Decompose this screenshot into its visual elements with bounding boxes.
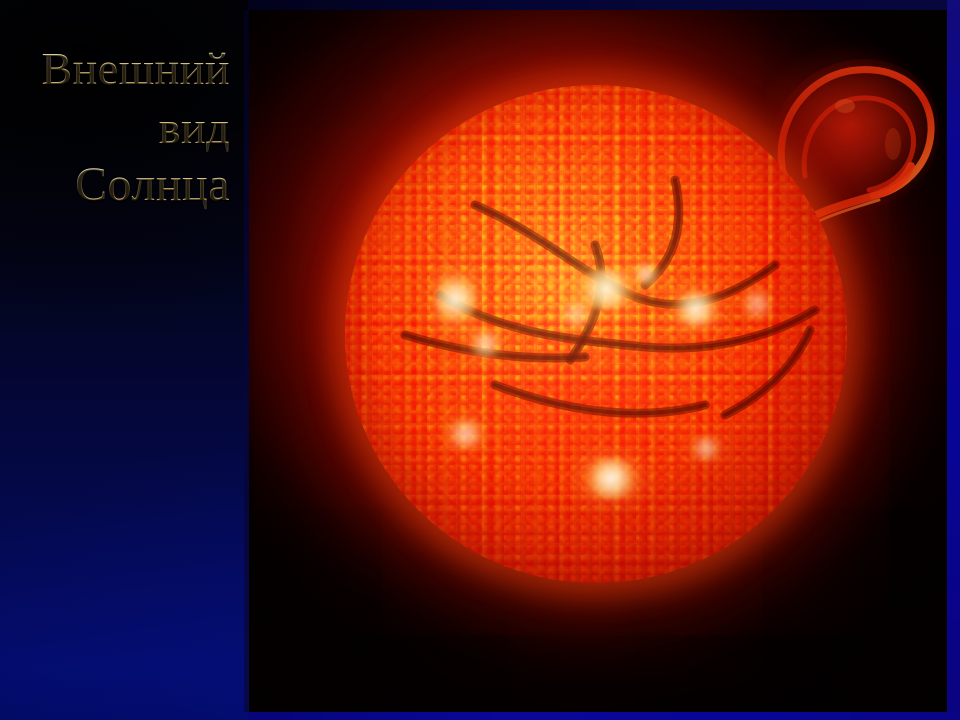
solar-disk — [345, 85, 847, 583]
title-line-2: вид — [0, 103, 236, 154]
frame-strip-right — [947, 0, 960, 720]
frame-strip-left — [244, 10, 249, 712]
slide-canvas: Внешний вид Солнца — [0, 0, 960, 720]
frame-strip-bottom — [248, 712, 960, 720]
title-line-1: Внешний — [0, 44, 236, 95]
page-title: Внешний вид Солнца — [0, 44, 236, 212]
limb-rim — [345, 85, 847, 583]
sun-photograph — [248, 10, 947, 712]
title-line-3: Солнца — [0, 159, 236, 212]
frame-strip-top — [248, 0, 960, 10]
